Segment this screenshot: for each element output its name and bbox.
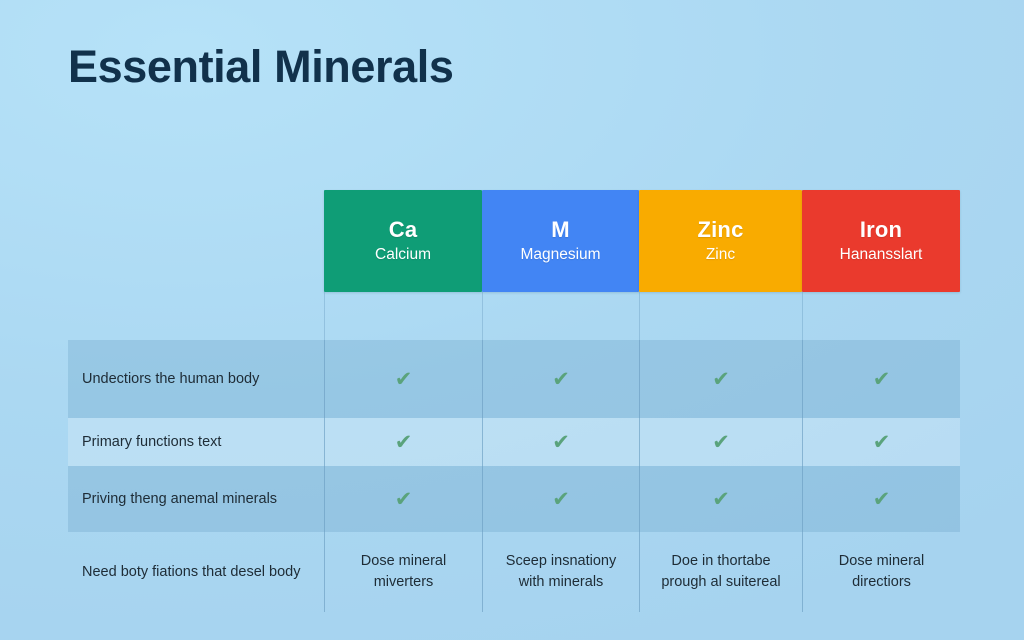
header-label-spacer [68,190,324,292]
column-name: Calcium [375,245,431,265]
column-header-zinc[interactable]: Zinc Zinc [639,190,802,292]
minerals-comparison-table: Ca Calcium M Magnesium Zinc Zinc Iron Ha… [68,190,960,612]
column-name: Hanansslart [840,245,923,265]
table-header-row: Ca Calcium M Magnesium Zinc Zinc Iron Ha… [68,190,960,292]
column-name: Zinc [706,245,735,265]
column-divider [324,292,325,612]
column-symbol: Iron [860,217,902,242]
page-title: Essential Minerals [68,40,453,93]
column-header-calcium[interactable]: Ca Calcium [324,190,482,292]
column-divider [639,292,640,612]
column-symbol: Ca [389,217,418,242]
column-header-iron[interactable]: Iron Hanansslart [802,190,960,292]
column-symbol: M [551,217,570,242]
column-header-magnesium[interactable]: M Magnesium [482,190,639,292]
column-divider [482,292,483,612]
column-dividers [68,292,960,612]
column-name: Magnesium [520,245,600,265]
column-symbol: Zinc [697,217,743,242]
page-background: Essential Minerals Ca Calcium M Magnesiu… [0,0,1024,640]
column-divider [802,292,803,612]
